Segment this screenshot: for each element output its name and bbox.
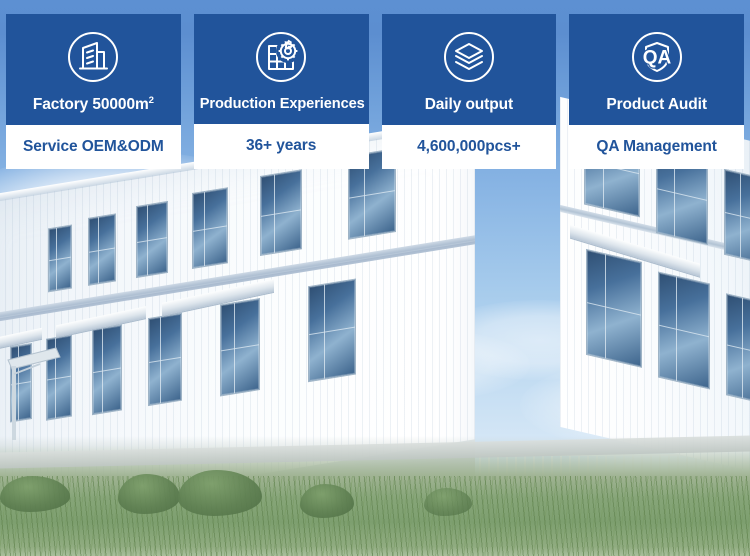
card-value: QA Management: [596, 138, 716, 156]
feature-card-factory-area[interactable]: Factory 50000m2 Service OEM&ODM: [6, 14, 181, 169]
card-title-superscript: 2: [149, 95, 154, 106]
card-title: Daily output: [388, 96, 551, 114]
qa-shield-icon: QA: [630, 30, 684, 84]
card-title-main: Product Audit: [606, 96, 707, 113]
card-footer: 4,600,000pcs+: [382, 125, 557, 169]
feature-card-product-audit[interactable]: QA Product Audit QA Management: [569, 14, 744, 169]
card-header: QA Product Audit: [569, 14, 744, 125]
window: [88, 213, 116, 286]
grass-blades: [0, 476, 750, 556]
window: [192, 187, 228, 269]
bush: [178, 470, 262, 516]
card-header: Daily output: [382, 14, 557, 125]
card-title-main: Daily output: [425, 96, 513, 113]
window: [726, 293, 750, 406]
window: [658, 272, 710, 390]
card-header: Production Experiences: [194, 14, 369, 124]
bush: [118, 474, 180, 514]
window: [48, 224, 72, 292]
card-title: Product Audit: [575, 96, 738, 114]
window: [260, 169, 302, 256]
window: [586, 249, 642, 368]
window: [136, 201, 168, 278]
card-footer: Service OEM&ODM: [6, 125, 181, 169]
bush: [424, 488, 472, 516]
card-value: 4,600,000pcs+: [417, 138, 520, 156]
lamp-post-icon: [6, 330, 66, 440]
window: [220, 298, 260, 396]
bush: [300, 484, 354, 518]
promo-banner: Factory 50000m2 Service OEM&ODM: [0, 0, 750, 556]
building-icon: [66, 30, 120, 84]
svg-text:QA: QA: [642, 48, 671, 69]
layers-stack-icon: [442, 30, 496, 84]
factory-gear-icon: [254, 30, 308, 84]
card-title: Factory 50000m2: [12, 96, 175, 114]
card-footer: 36+ years: [194, 124, 369, 168]
card-title-main: Production Experiences: [200, 96, 365, 112]
window: [92, 324, 122, 415]
feature-card-daily-output[interactable]: Daily output 4,600,000pcs+: [382, 14, 557, 169]
window: [308, 278, 356, 382]
card-title-main: Factory 50000m: [33, 96, 149, 113]
window: [148, 313, 182, 407]
concrete-curb: [0, 435, 750, 468]
card-title: Production Experiences: [200, 96, 363, 113]
window: [724, 169, 750, 266]
feature-card-strip: Factory 50000m2 Service OEM&ODM: [6, 14, 744, 169]
bush: [0, 476, 70, 512]
ground-grass: [0, 436, 750, 556]
card-header: Factory 50000m2: [6, 14, 181, 125]
card-value: 36+ years: [246, 137, 316, 155]
card-value: Service OEM&ODM: [23, 138, 164, 156]
card-footer: QA Management: [569, 125, 744, 169]
feature-card-production-experience[interactable]: Production Experiences 36+ years: [194, 14, 369, 169]
